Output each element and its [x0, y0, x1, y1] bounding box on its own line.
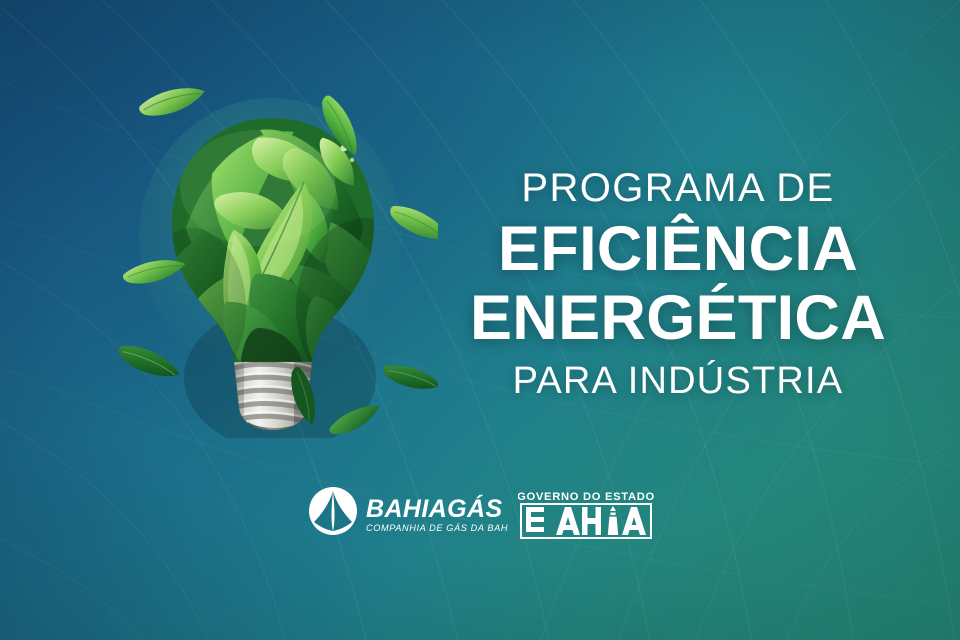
headline-block: PROGRAMA DE EFICIÊNCIA ENERGÉTICA PARA I…: [468, 168, 888, 400]
logo-bar: BAHIAGÁS COMPANHIA DE GÁS DA BAHIA GOVER…: [300, 482, 660, 548]
flame-mountain-circle-icon: [309, 487, 357, 535]
bahiagas-logo: BAHIAGÁS COMPANHIA DE GÁS DA BAHIA: [308, 486, 508, 547]
promotional-banner: PROGRAMA DE EFICIÊNCIA ENERGÉTICA PARA I…: [0, 0, 960, 640]
bahia-wordmark: [526, 506, 646, 535]
bahiagas-wordmark: BAHIAGÁS: [366, 494, 503, 523]
headline-line-4: PARA INDÚSTRIA: [468, 362, 888, 400]
headline-line-1: PROGRAMA DE: [468, 168, 888, 208]
bahiagas-tagline: COMPANHIA DE GÁS DA BAHIA: [366, 523, 508, 533]
headline-line-3: ENERGÉTICA: [468, 287, 888, 350]
governo-bahia-logo: GOVERNO DO ESTADO: [518, 487, 654, 546]
headline-line-2: EFICIÊNCIA: [468, 218, 888, 281]
lighthouse-icon: [608, 506, 618, 535]
governo-line1: GOVERNO DO ESTADO: [518, 491, 654, 503]
leaf-lightbulb-illustration: [108, 78, 438, 438]
